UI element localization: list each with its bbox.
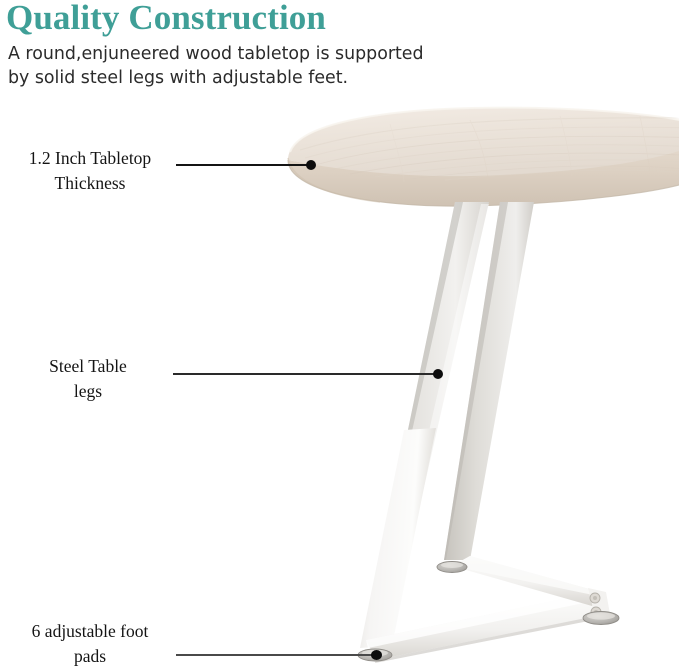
leader-dot-thickness (306, 160, 316, 170)
callout-label-thickness: 1.2 Inch Tabletop Thickness (6, 146, 174, 196)
product-infographic: Quality Construction A round,enjuneered … (0, 0, 679, 669)
callout-label-feet: 6 adjustable foot pads (6, 619, 174, 669)
foot-pad (358, 562, 619, 662)
leader-dot-feet (371, 650, 382, 660)
table-illustration (0, 0, 679, 669)
steel-leg (378, 202, 534, 575)
tabletop-surface (288, 108, 679, 202)
leader-dot-legs (433, 369, 443, 379)
tabletop-edge-band (288, 140, 679, 206)
page-subtitle: A round,enjuneered wood tabletop is supp… (8, 42, 508, 90)
leader-line-feet (176, 654, 375, 656)
leader-line-legs (173, 373, 438, 375)
table-base (360, 428, 610, 663)
leader-line-thickness (176, 164, 310, 166)
callout-label-legs: Steel Table legs (6, 354, 170, 404)
page-title: Quality Construction (6, 0, 326, 38)
